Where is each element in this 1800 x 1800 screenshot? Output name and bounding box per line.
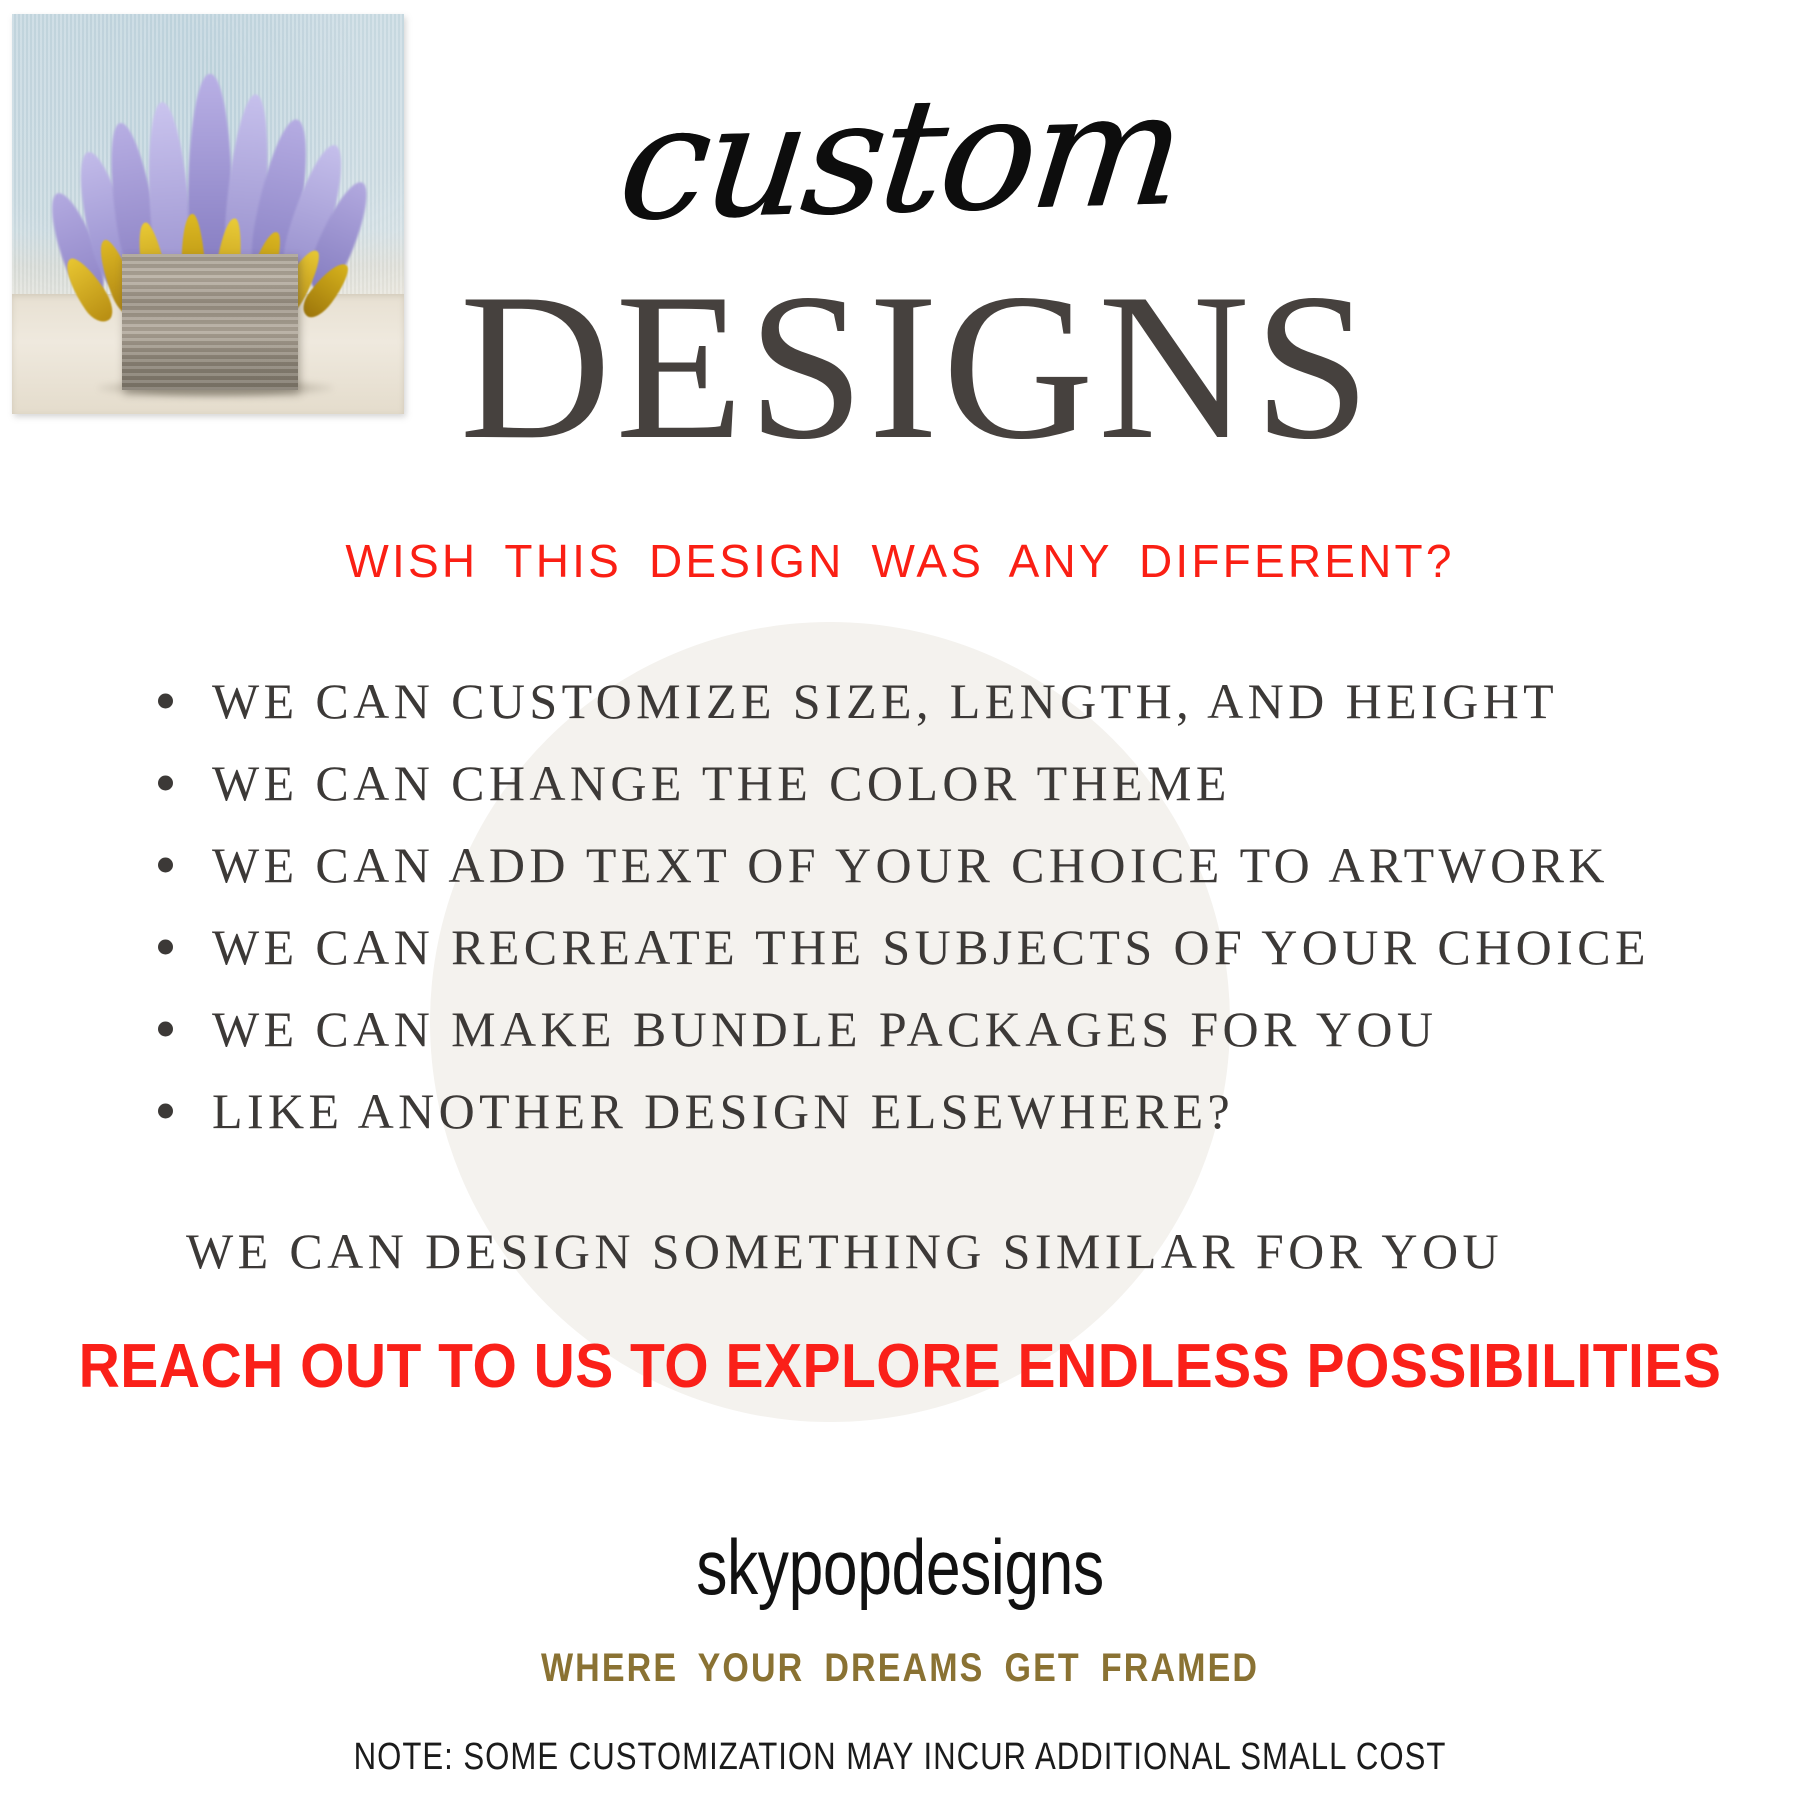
list-item: WE CAN MAKE BUNDLE PACKAGES FOR YOU [150,988,1710,1070]
list-item-label: LIKE ANOTHER DESIGN ELSEWHERE? [212,1086,1234,1136]
artwork-canvas [12,14,404,414]
artwork-thumbnail [12,14,404,414]
call-to-action: REACH OUT TO US TO EXPLORE ENDLESS POSSI… [72,1336,1728,1398]
bullet-dot-icon [158,1022,173,1037]
bullet-dot-icon [158,694,173,709]
bullet-dot-icon [158,776,173,791]
list-item: WE CAN ADD TEXT OF YOUR CHOICE TO ARTWOR… [150,824,1710,906]
list-item: WE CAN CHANGE THE COLOR THEME [150,742,1710,824]
list-item-label: WE CAN CUSTOMIZE SIZE, LENGTH, AND HEIGH… [212,676,1558,726]
bullet-dot-icon [158,858,173,873]
list-item: WE CAN CUSTOMIZE SIZE, LENGTH, AND HEIGH… [150,660,1710,742]
subtitle-question: WISH THIS DESIGN WAS ANY DIFFERENT? [0,538,1800,584]
list-item-label: WE CAN CHANGE THE COLOR THEME [212,758,1231,808]
list-item-label: WE CAN MAKE BUNDLE PACKAGES FOR YOU [212,1004,1437,1054]
brand-logo: skypopdesigns [180,1528,1620,1606]
bullet-dot-icon [158,940,173,955]
list-item-label: WE CAN ADD TEXT OF YOUR CHOICE TO ARTWOR… [212,840,1609,890]
list-item: WE CAN RECREATE THE SUBJECTS OF YOUR CHO… [150,906,1710,988]
footer-note: NOTE: SOME CUSTOMIZATION MAY INCUR ADDIT… [162,1738,1638,1776]
list-item-label: WE CAN RECREATE THE SUBJECTS OF YOUR CHO… [212,922,1650,972]
benefit-list: WE CAN CUSTOMIZE SIZE, LENGTH, AND HEIGH… [150,660,1710,1152]
list-item: LIKE ANOTHER DESIGN ELSEWHERE? [150,1070,1710,1152]
benefit-continuation-text: WE CAN DESIGN SOMETHING SIMILAR FOR YOU [186,1226,1503,1276]
bullet-dot-icon [158,1104,173,1119]
custom-designs-poster: custom DESIGNS WISH THIS DESIGN WAS ANY … [0,0,1800,1800]
brand-tagline: WHERE YOUR DREAMS GET FRAMED [135,1648,1665,1688]
wooden-crate [122,254,298,390]
